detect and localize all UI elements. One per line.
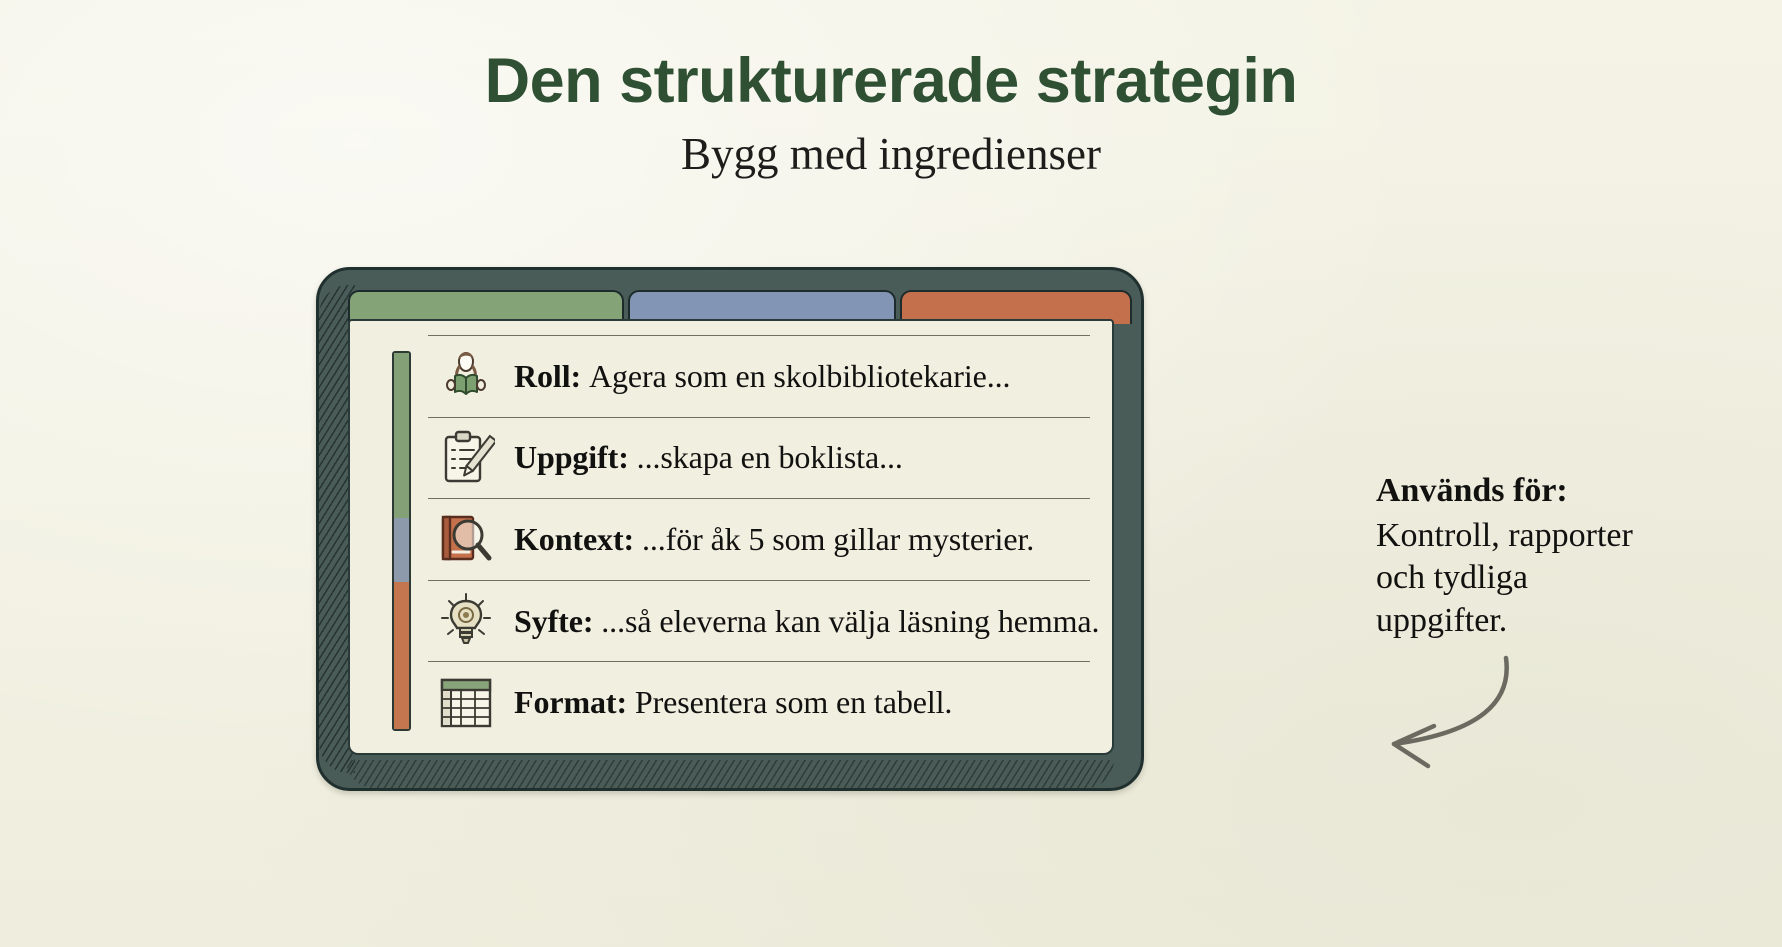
clipboard-pencil-icon xyxy=(434,426,498,490)
list-item-label: Uppgift: xyxy=(514,439,637,475)
list-item-value: Presentera som en tabell. xyxy=(635,684,952,720)
annotation-line: och tydliga xyxy=(1376,557,1756,600)
annotation-title: Används för: xyxy=(1376,470,1756,513)
page-title: Den strukturerade strategin xyxy=(0,48,1782,114)
colour-strip-segment-orange xyxy=(394,582,409,729)
annotation-body: Kontroll, rapporter och tydliga uppgifte… xyxy=(1376,515,1756,643)
list-item: Roll: Agera som en skolbibliotekarie... xyxy=(428,335,1090,417)
list-item: Uppgift: ...skapa en boklista... xyxy=(428,417,1090,499)
table-grid-icon xyxy=(434,671,498,735)
page-subtitle: Bygg med ingredienser xyxy=(0,130,1782,180)
list-item-value: ...så eleverna kan välja läsning hemma. xyxy=(601,603,1099,639)
annotation-line: Kontroll, rapporter xyxy=(1376,515,1756,558)
colour-strip-segment-green xyxy=(394,353,409,518)
list-item-text: Kontext: ...för åk 5 som gillar mysterie… xyxy=(514,521,1034,558)
tablet-screen: Roll: Agera som en skolbibliotekarie... xyxy=(348,319,1114,755)
list-item-label: Roll: xyxy=(514,358,589,394)
curved-arrow-left-icon xyxy=(1330,640,1560,780)
list-item-text: Roll: Agera som en skolbibliotekarie... xyxy=(514,358,1010,395)
list-item-text: Uppgift: ...skapa en boklista... xyxy=(514,439,903,476)
list-item-text: Syfte: ...så eleverna kan välja läsning … xyxy=(514,603,1099,640)
list-item-label: Kontext: xyxy=(514,521,642,557)
annotation-line: uppgifter. xyxy=(1376,600,1756,643)
list-item-label: Syfte: xyxy=(514,603,601,639)
list-item-text: Format: Presentera som en tabell. xyxy=(514,684,952,721)
colour-strip xyxy=(392,351,411,731)
list-item: Format: Presentera som en tabell. xyxy=(428,661,1090,743)
lightbulb-icon xyxy=(434,589,498,653)
ingredient-list: Roll: Agera som en skolbibliotekarie... xyxy=(428,335,1090,743)
magnifier-book-icon xyxy=(434,507,498,571)
annotation-block: Används för: Kontroll, rapporter och tyd… xyxy=(1376,470,1756,642)
list-item-value: ...för åk 5 som gillar mysterier. xyxy=(642,521,1034,557)
list-item-label: Format: xyxy=(514,684,635,720)
person-reading-book-icon xyxy=(434,344,498,408)
tablet-illustration: Roll: Agera som en skolbibliotekarie... xyxy=(316,267,1144,791)
colour-strip-segment-blue xyxy=(394,518,409,582)
list-item-value: Agera som en skolbibliotekarie... xyxy=(589,358,1010,394)
list-item: Kontext: ...för åk 5 som gillar mysterie… xyxy=(428,498,1090,580)
list-item-value: ...skapa en boklista... xyxy=(637,439,903,475)
heading-block: Den strukturerade strategin Bygg med ing… xyxy=(0,48,1782,180)
list-item: Syfte: ...så eleverna kan välja läsning … xyxy=(428,580,1090,662)
